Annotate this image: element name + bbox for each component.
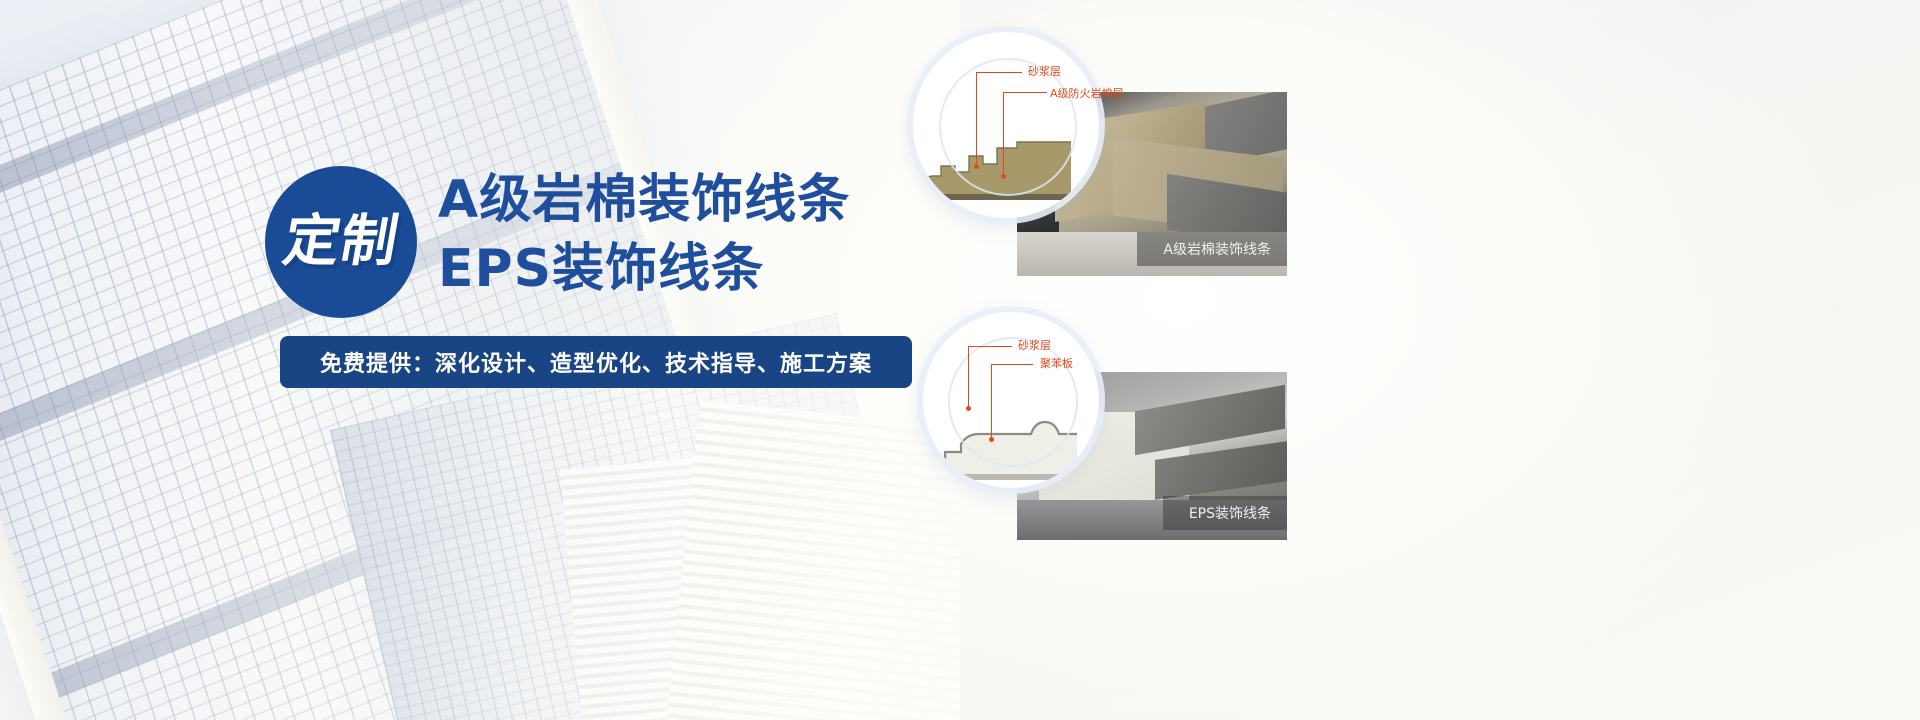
callout-leader-line bbox=[968, 346, 1012, 347]
annotation-mortar-layer-top: 砂浆层 bbox=[1028, 66, 1061, 77]
annotation-rockwool-layer: A级防火岩棉层 bbox=[1050, 88, 1124, 99]
callout-circle bbox=[923, 312, 1099, 488]
callout-circle bbox=[913, 32, 1099, 218]
headline-line-2: EPS装饰线条 bbox=[438, 243, 850, 296]
callout-leader-line bbox=[976, 72, 977, 168]
callout-leader-line bbox=[991, 364, 1033, 365]
callout-leader-dot bbox=[1001, 174, 1006, 179]
services-pill: 免费提供：深化设计、造型优化、技术指导、施工方案 bbox=[280, 336, 912, 388]
building-louvre-large bbox=[655, 400, 960, 720]
promo-banner: 定制 A级岩棉装饰线条 EPS装饰线条 免费提供：深化设计、造型优化、技术指导、… bbox=[0, 0, 1920, 720]
rockwool-profile-diagram bbox=[921, 132, 1091, 202]
callout-leader-line bbox=[976, 72, 1022, 73]
product-caption-rockwool: A级岩棉装饰线条 bbox=[1137, 232, 1287, 266]
callout-leader-dot bbox=[974, 164, 979, 169]
callout-leader-dot bbox=[966, 406, 971, 411]
callout-leader-dot bbox=[989, 437, 994, 442]
page-title: A级岩棉装饰线条 EPS装饰线条 bbox=[438, 174, 850, 296]
annotation-eps-board: 聚苯板 bbox=[1040, 358, 1073, 369]
callout-rockwool-section bbox=[913, 32, 1099, 218]
services-pill-label: 免费提供：深化设计、造型优化、技术指导、施工方案 bbox=[320, 346, 872, 378]
louvre-slats bbox=[655, 400, 960, 720]
callout-leader-line bbox=[1003, 92, 1004, 176]
eps-profile-diagram bbox=[927, 400, 1099, 482]
annotation-mortar-layer-bottom: 砂浆层 bbox=[1018, 340, 1051, 351]
callout-leader-line bbox=[968, 346, 969, 410]
custom-badge-label: 定制 bbox=[279, 214, 403, 270]
headline-line-1: A级岩棉装饰线条 bbox=[438, 174, 850, 227]
callout-leader-line bbox=[991, 364, 992, 440]
product-caption-eps: EPS装饰线条 bbox=[1163, 496, 1287, 530]
callout-eps-section bbox=[923, 312, 1099, 488]
callout-leader-line bbox=[1003, 92, 1047, 93]
custom-badge: 定制 bbox=[265, 166, 417, 318]
